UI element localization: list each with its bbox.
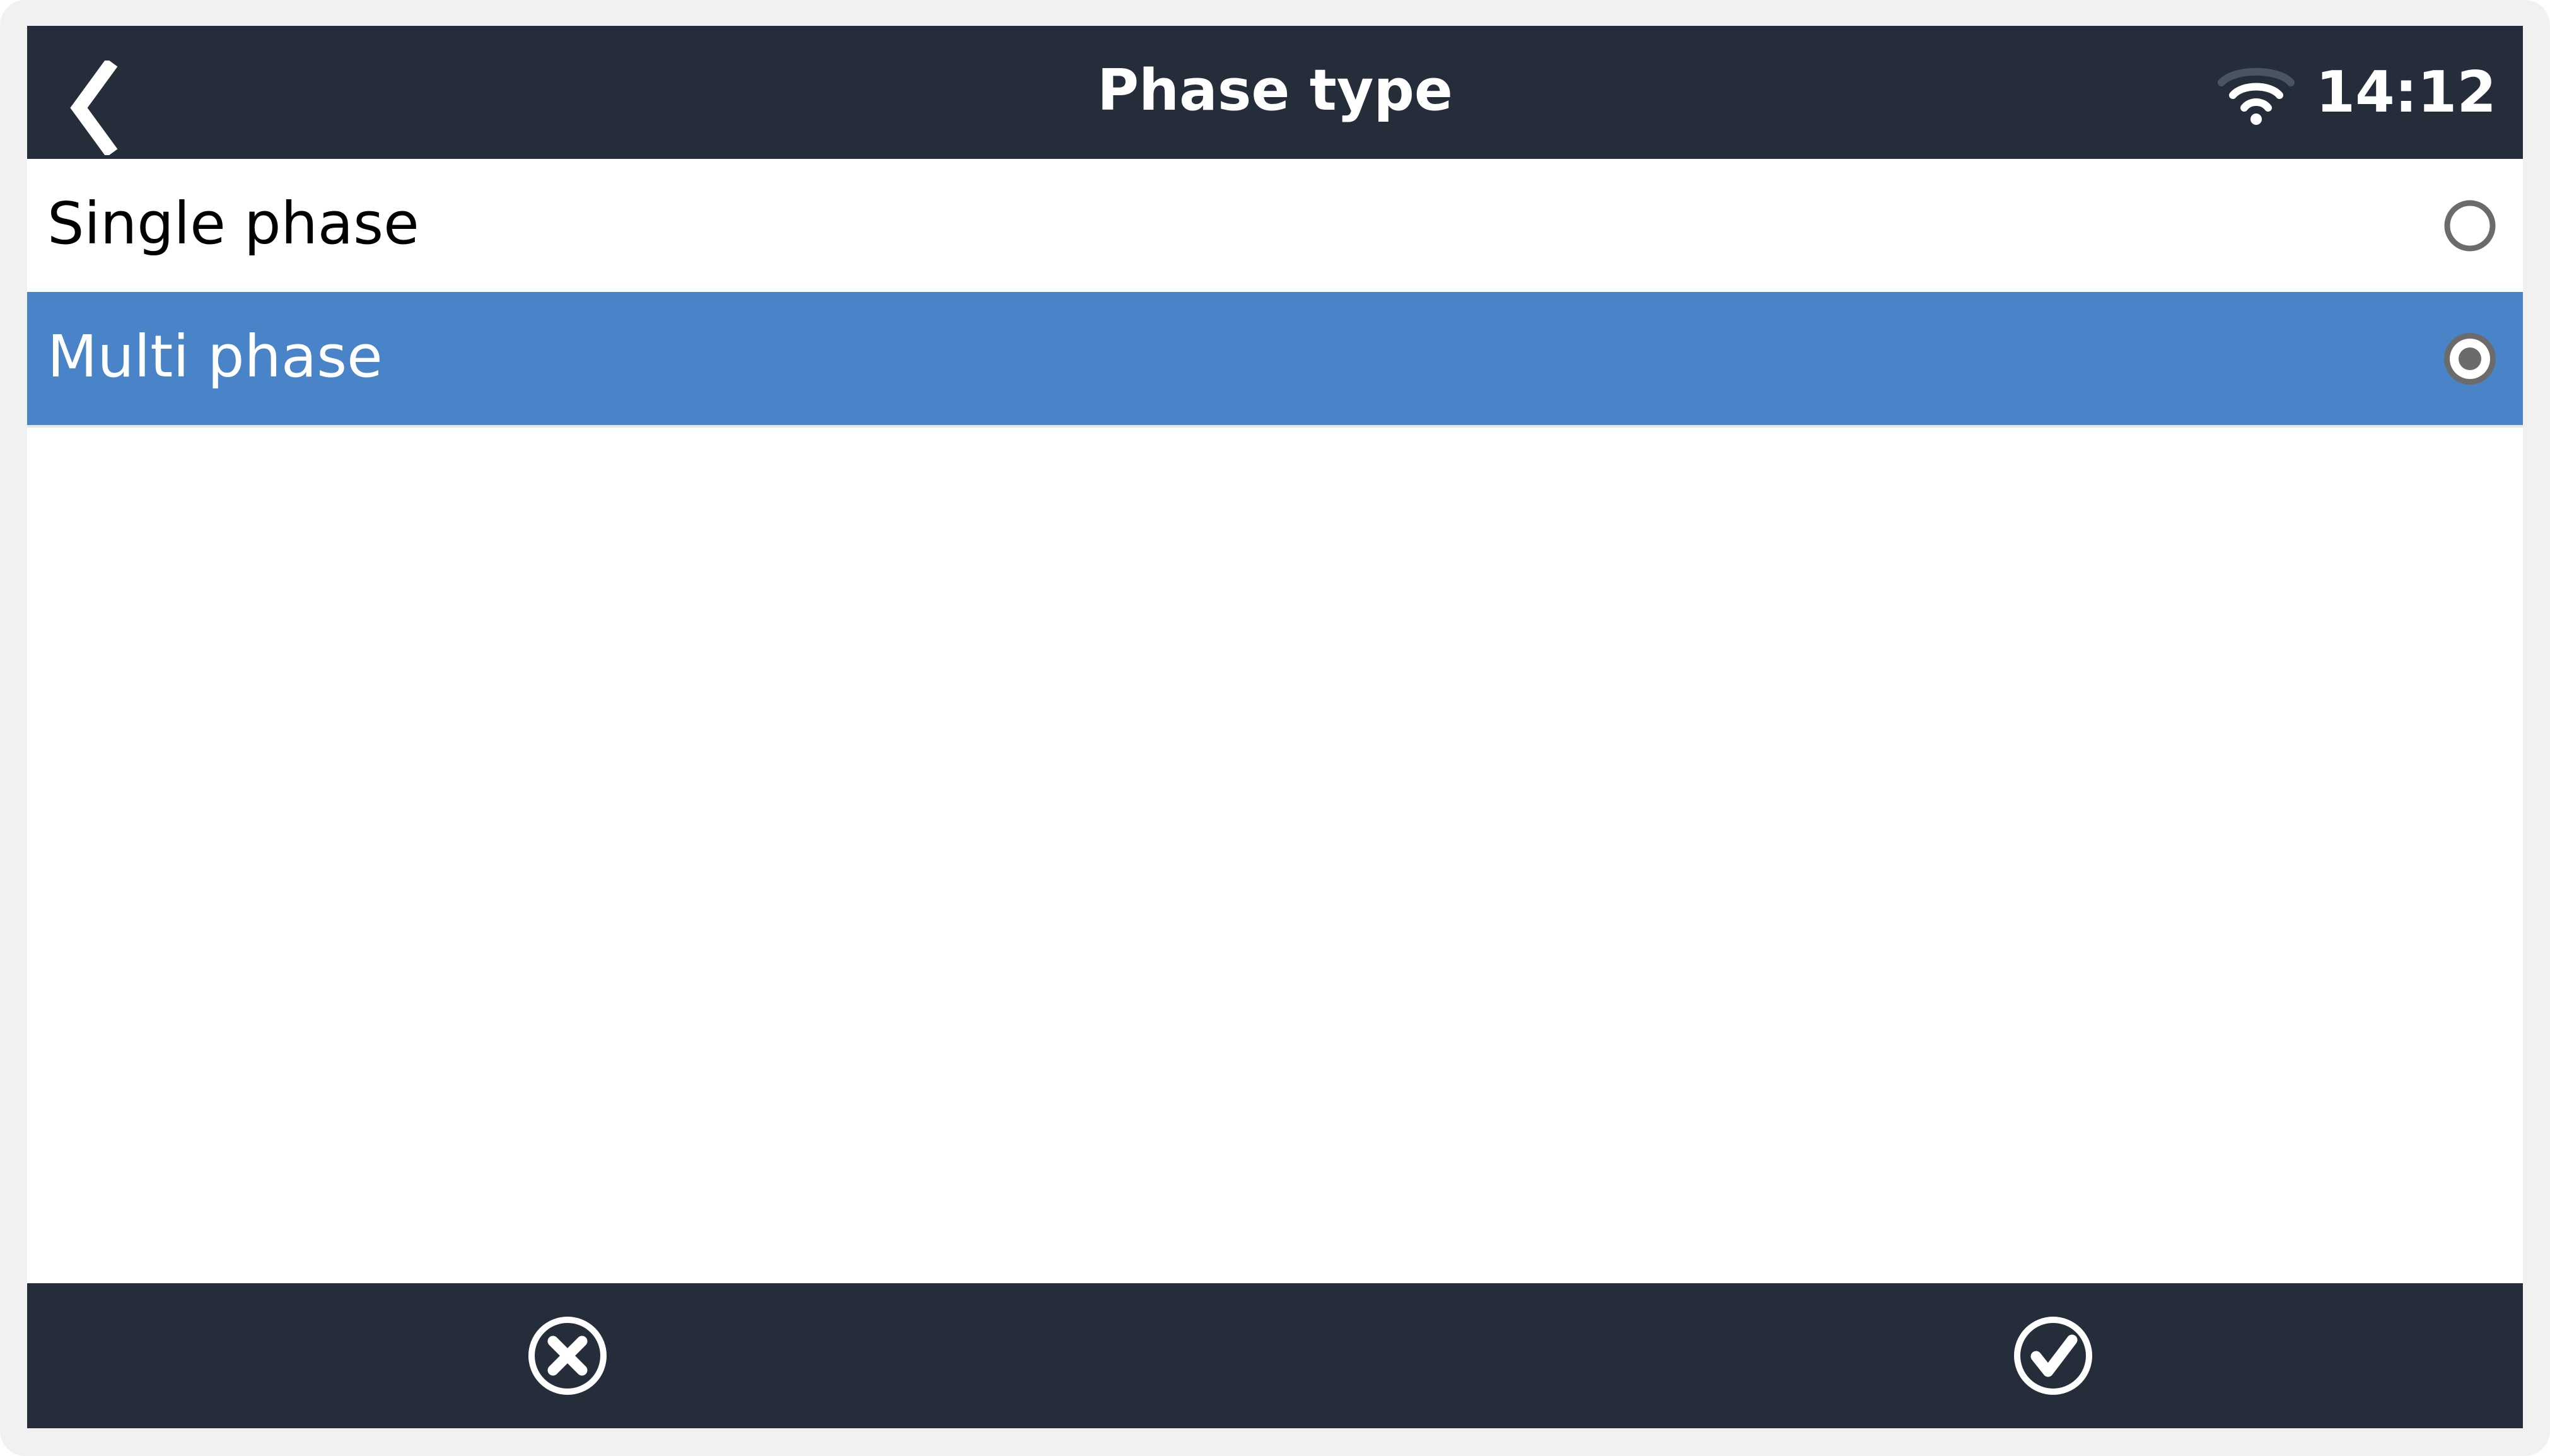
page-title: Phase type <box>27 26 2523 159</box>
screen: Phase type 14:12 Single phase <box>27 26 2523 1428</box>
device-frame: Phase type 14:12 Single phase <box>0 0 2550 1456</box>
list-separator <box>27 425 2523 428</box>
radio-unchecked-icon[interactable] <box>2441 197 2499 255</box>
status-cluster: 14:12 <box>2215 26 2496 159</box>
header-bar: Phase type 14:12 <box>27 26 2523 159</box>
list-item[interactable]: Multi phase <box>27 292 2523 425</box>
footer-bar <box>27 1283 2523 1428</box>
list-item-label: Single phase <box>47 159 419 292</box>
list-item[interactable]: Single phase <box>27 159 2523 292</box>
clock: 14:12 <box>2316 64 2496 121</box>
radio-checked-icon[interactable] <box>2441 330 2499 388</box>
options-list: Single phase Multi phase <box>27 159 2523 1283</box>
wifi-icon <box>2215 60 2297 129</box>
cancel-button[interactable] <box>473 1283 662 1428</box>
list-item-label: Multi phase <box>47 292 383 425</box>
confirm-button[interactable] <box>1959 1283 2148 1428</box>
